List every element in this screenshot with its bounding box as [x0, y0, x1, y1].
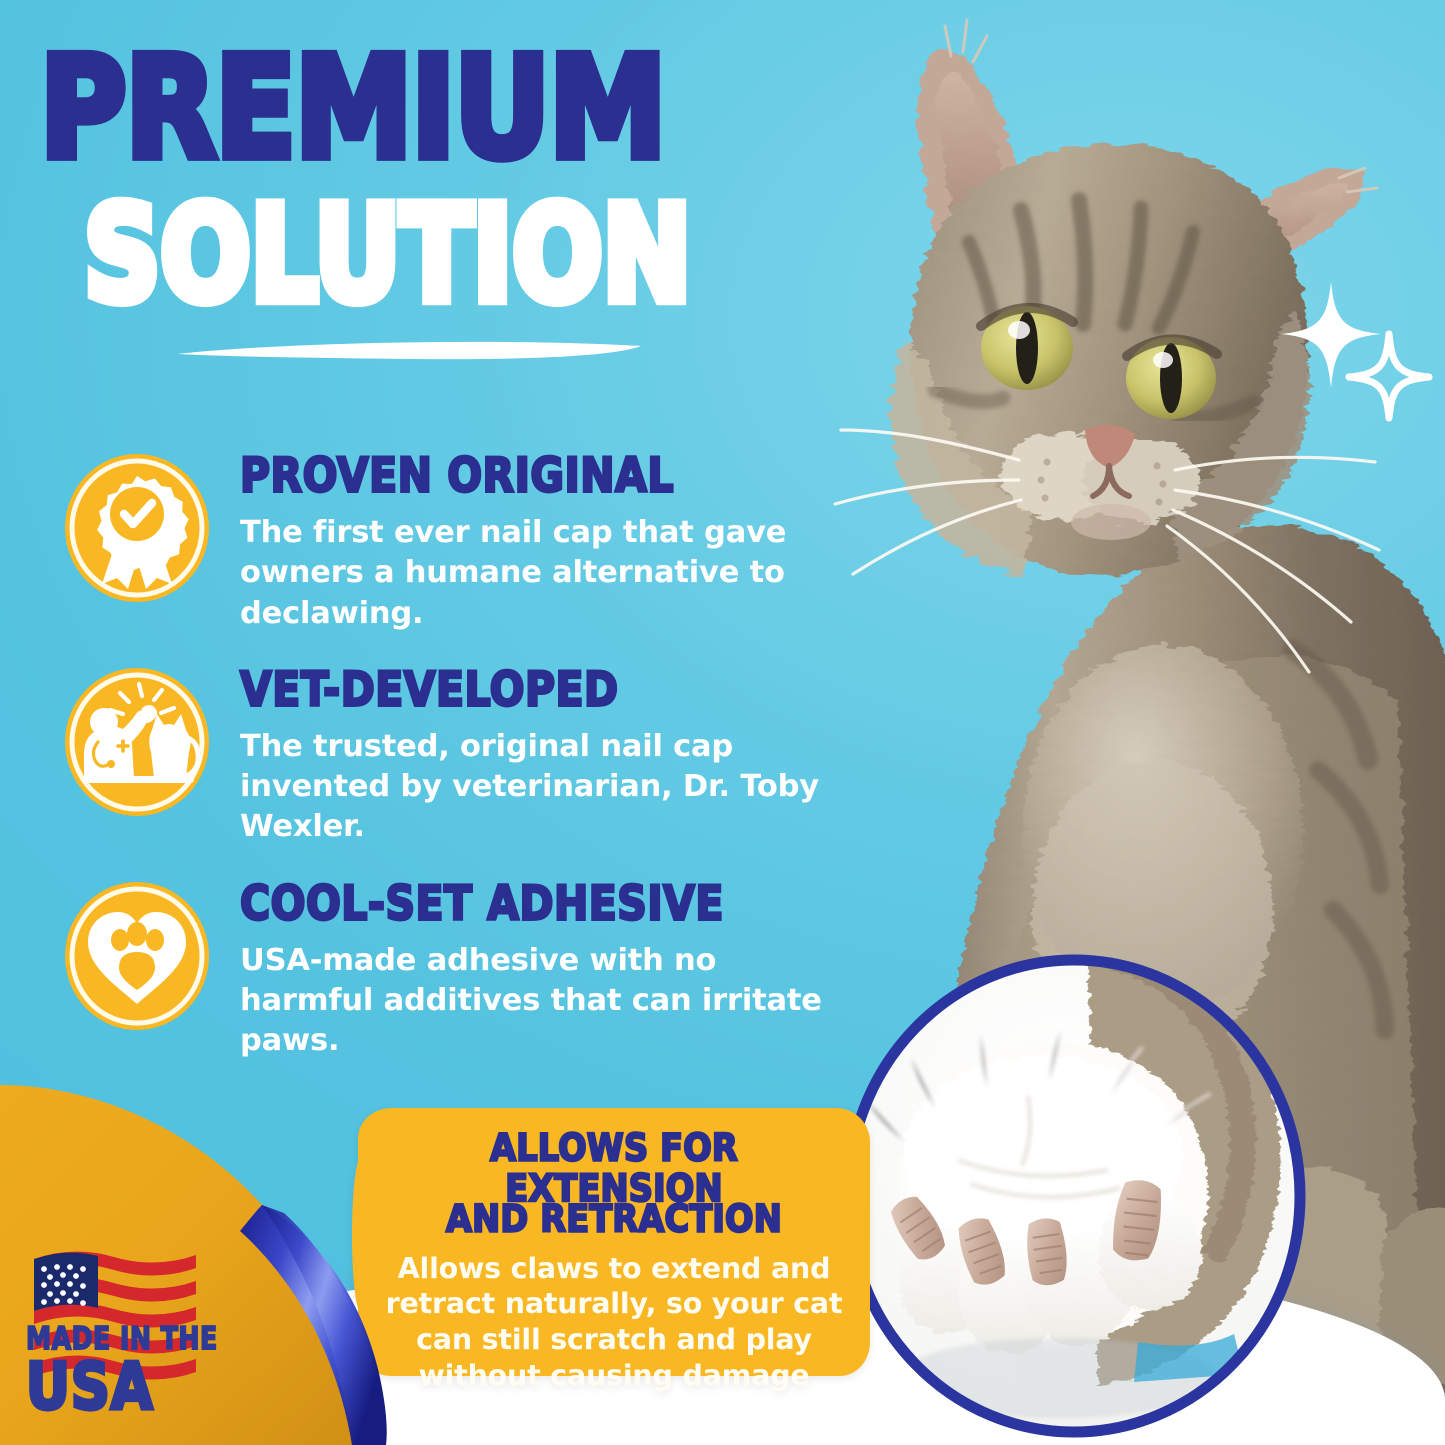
page-title: PREMIUM SOLUTION — [40, 44, 840, 290]
feature-title: VET-DEVELOPED — [240, 666, 858, 714]
vet-highfive-cat-icon — [62, 666, 212, 818]
headline-line-1: PREMIUM — [40, 44, 840, 172]
cat-paw-with-nail-caps-photo — [838, 946, 1398, 1445]
award-badge-check-icon — [62, 452, 212, 604]
headline-line-2: SOLUTION — [84, 195, 855, 316]
feature-title: PROVEN ORIGINAL — [240, 452, 858, 500]
feature-description: USA-made adhesive with no harmful additi… — [240, 941, 858, 1062]
feature-list: PROVEN ORIGINAL The first ever nail cap … — [58, 448, 858, 1089]
feature-item-cool-set-adhesive: COOL-SET ADHESIVE USA-made adhesive with… — [58, 876, 858, 1062]
usa-text: USA — [26, 1355, 236, 1419]
feature-title: COOL-SET ADHESIVE — [240, 880, 858, 928]
feature-item-vet-developed: VET-DEVELOPED The trusted, original nail… — [58, 662, 858, 848]
feature-description: The first ever nail cap that gave owners… — [240, 513, 830, 634]
sparkle-stars-icon — [1269, 276, 1439, 426]
feature-item-proven-original: PROVEN ORIGINAL The first ever nail cap … — [58, 448, 858, 634]
heart-paw-icon — [62, 880, 212, 1032]
made-in-usa-label: MADE IN THE USA — [26, 1329, 236, 1419]
feature-description: The trusted, original nail cap invented … — [240, 727, 858, 848]
infographic-canvas: PREMIUM SOLUTION PROVEN ORIG — [0, 0, 1445, 1445]
headline-divider — [175, 336, 645, 362]
